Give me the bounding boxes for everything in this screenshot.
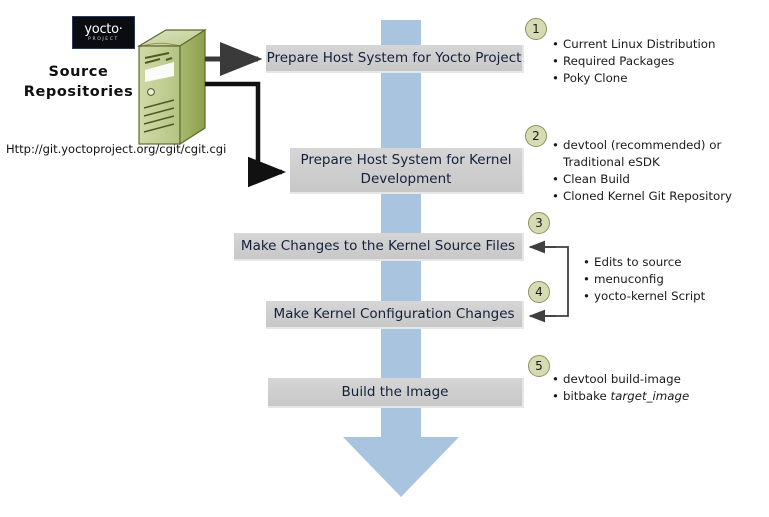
- list-item: devtool build-image: [552, 371, 764, 388]
- connector-server-to-box2: [205, 84, 282, 172]
- server-tower-icon: [136, 28, 208, 148]
- step-1-notes: Current Linux Distribution Required Pack…: [552, 36, 764, 87]
- main-flow-arrow-shaft: [381, 20, 421, 440]
- step-number-badge-5: 5: [528, 355, 550, 377]
- yocto-logo-dot: ·: [119, 22, 123, 37]
- source-label-line-2: Repositories: [16, 82, 141, 102]
- process-box-prepare-host-yocto[interactable]: Prepare Host System for Yocto Project: [266, 45, 524, 73]
- list-item: Edits to source: [583, 254, 763, 271]
- list-item-bitbake: bitbake target_image: [552, 388, 764, 405]
- bitbake-command: bitbake: [563, 389, 611, 403]
- yocto-logo-word: yocto: [84, 22, 118, 37]
- step-number-badge-3: 3: [528, 212, 550, 234]
- list-item: yocto-kernel Script: [583, 288, 763, 305]
- list-item: devtool (recommended) or Traditional eSD…: [552, 137, 764, 171]
- step-number-badge-2: 2: [525, 125, 547, 147]
- step-2-notes: devtool (recommended) or Traditional eSD…: [552, 137, 764, 205]
- source-label-line-1: Source: [16, 62, 141, 82]
- process-box-prepare-host-kernel[interactable]: Prepare Host System for Kernel Developme…: [290, 148, 524, 194]
- process-box-make-kernel-source-changes[interactable]: Make Changes to the Kernel Source Files: [234, 233, 524, 261]
- yocto-project-logo: yocto· PROJECT: [72, 16, 135, 49]
- diagram-canvas: yocto· PROJECT Source Repositories Http:…: [0, 0, 769, 517]
- yocto-logo-text: yocto·: [84, 23, 122, 36]
- list-item: Clean Build: [552, 171, 764, 188]
- list-item: Required Packages: [552, 53, 764, 70]
- step-5-notes: devtool build-image bitbake target_image: [552, 371, 764, 405]
- list-item: Current Linux Distribution: [552, 36, 764, 53]
- bitbake-target-arg: target_image: [611, 389, 690, 403]
- process-box-build-image[interactable]: Build the Image: [268, 378, 524, 408]
- process-box-make-kernel-config-changes[interactable]: Make Kernel Configuration Changes: [266, 301, 524, 329]
- list-item: menuconfig: [583, 271, 763, 288]
- step-number-badge-4: 4: [528, 281, 550, 303]
- yocto-logo-subtext: PROJECT: [88, 38, 119, 43]
- main-flow-arrow-head: [343, 437, 459, 497]
- list-item: Cloned Kernel Git Repository: [552, 188, 764, 205]
- source-repositories-label: Source Repositories: [16, 62, 141, 102]
- list-item: Poky Clone: [552, 70, 764, 87]
- steps-3-4-shared-notes: Edits to source menuconfig yocto-kernel …: [583, 254, 763, 305]
- step-number-badge-1: 1: [525, 18, 547, 40]
